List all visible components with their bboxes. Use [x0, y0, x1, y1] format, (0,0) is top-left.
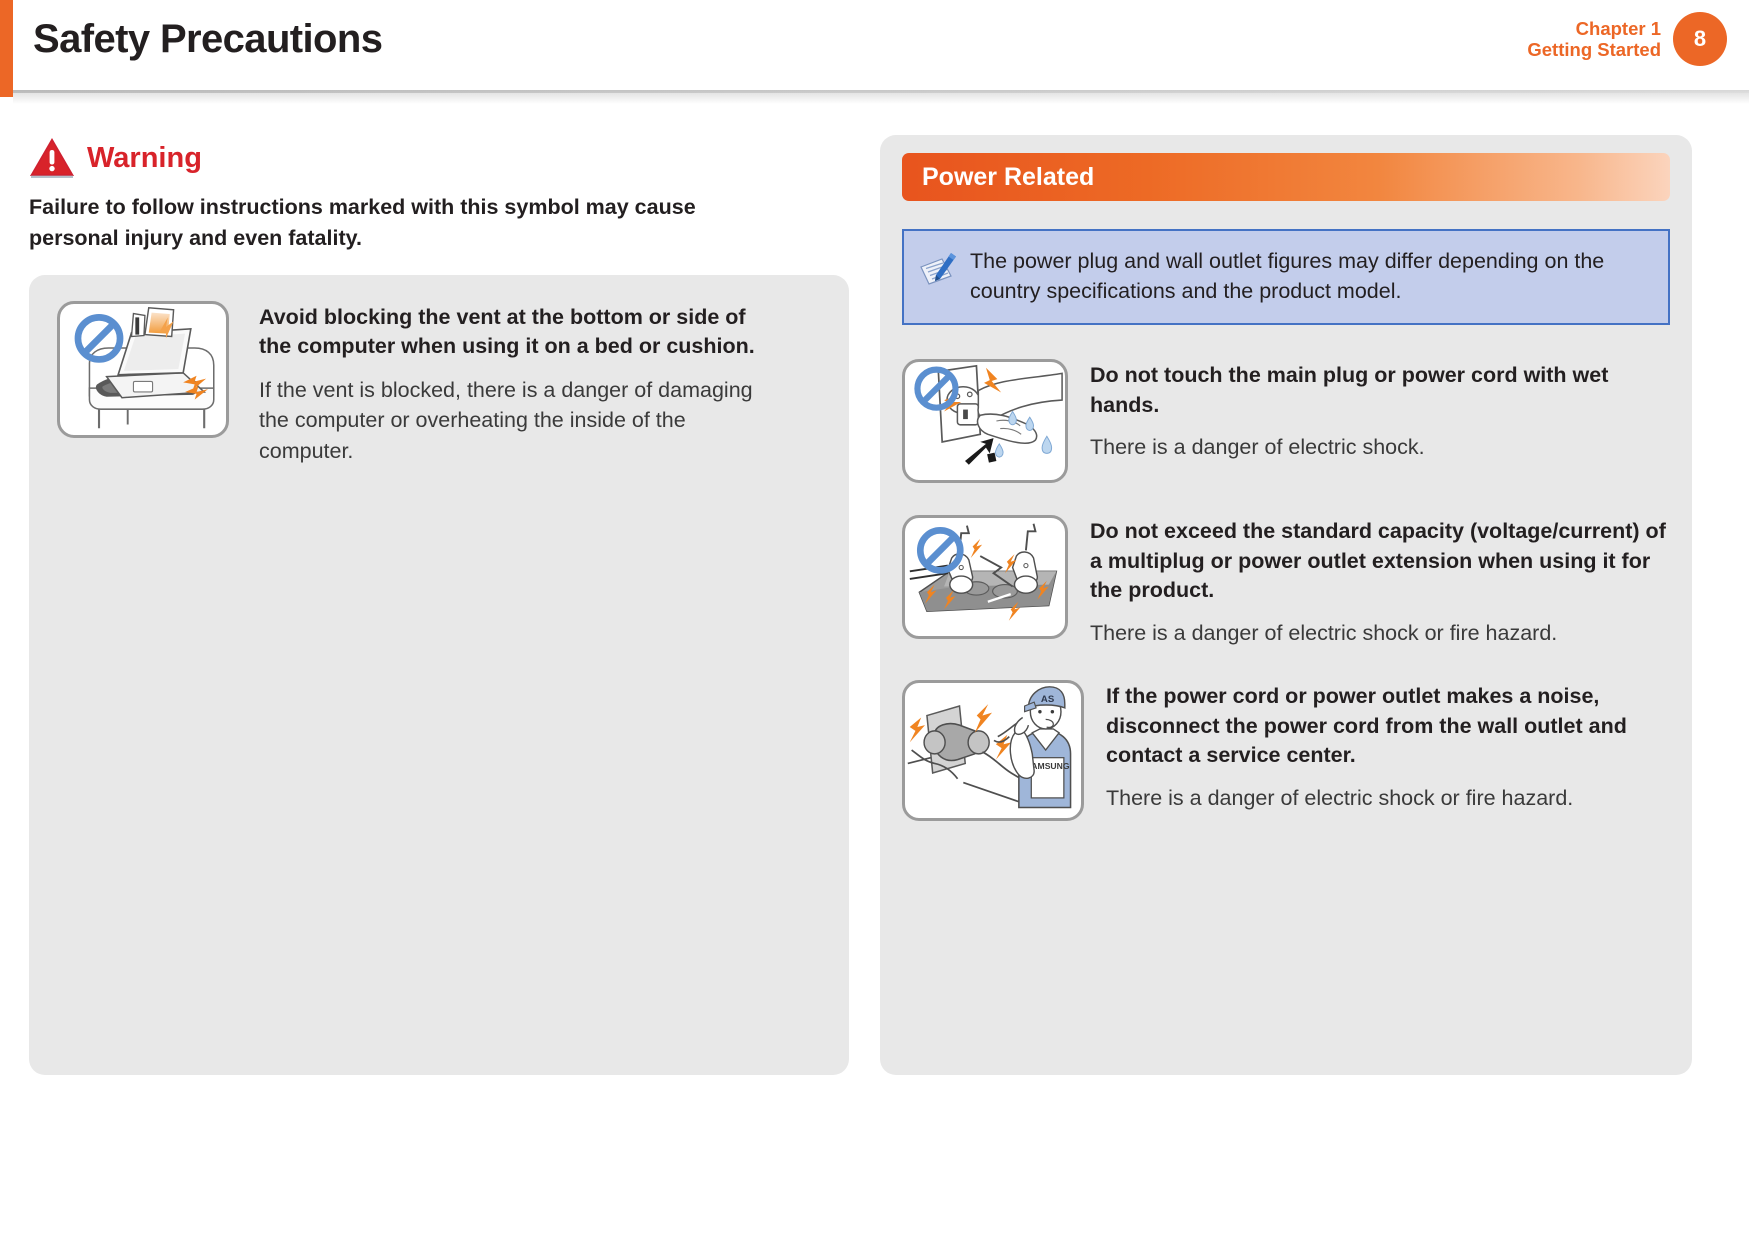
- header-divider-shadow: [13, 90, 1749, 104]
- service-center-call-icon: SAMSUNG AS: [902, 680, 1084, 821]
- precaution-title: Do not touch the main plug or power cord…: [1090, 361, 1670, 420]
- precaution-item: Avoid blocking the vent at the bottom or…: [57, 301, 819, 466]
- left-precautions-panel: Avoid blocking the vent at the bottom or…: [29, 275, 849, 1075]
- header-accent-bar: [0, 0, 13, 97]
- manual-page: Safety Precautions Chapter 1 Getting Sta…: [0, 0, 1749, 1241]
- left-column: Warning Failure to follow instructions m…: [0, 135, 880, 1241]
- precaution-body: Avoid blocking the vent at the bottom or…: [259, 301, 819, 466]
- section-title: Power Related: [922, 163, 1094, 192]
- precaution-body: Do not exceed the standard capacity (vol…: [1090, 515, 1670, 648]
- power-related-panel: Power Related: [880, 135, 1692, 1075]
- precaution-title: Do not exceed the standard capacity (vol…: [1090, 517, 1670, 605]
- precaution-description: There is a danger of electric shock or f…: [1106, 783, 1670, 814]
- note-pen-icon: [918, 247, 958, 306]
- warning-header: Warning: [29, 135, 850, 179]
- warning-label: Warning: [87, 142, 202, 175]
- precaution-title: If the power cord or power outlet makes …: [1106, 682, 1670, 770]
- precaution-description: If the vent is blocked, there is a dange…: [259, 375, 759, 467]
- chapter-info: Chapter 1 Getting Started: [1527, 18, 1661, 61]
- page-header: Safety Precautions Chapter 1 Getting Sta…: [0, 0, 1749, 100]
- precaution-body: Do not touch the main plug or power cord…: [1090, 359, 1670, 483]
- precaution-title: Avoid blocking the vent at the bottom or…: [259, 303, 779, 362]
- wet-hands-plug-prohibited-icon: [902, 359, 1068, 483]
- note-text: The power plug and wall outlet figures m…: [970, 247, 1648, 306]
- chapter-name: Getting Started: [1527, 39, 1661, 60]
- page-number-badge: 8: [1673, 12, 1727, 66]
- warning-triangle-icon: [29, 137, 75, 178]
- right-column: Power Related: [880, 135, 1749, 1241]
- precaution-body: If the power cord or power outlet makes …: [1106, 680, 1670, 821]
- note-box: The power plug and wall outlet figures m…: [902, 229, 1670, 325]
- precaution-item: SAMSUNG AS: [902, 680, 1670, 821]
- warning-description: Failure to follow instructions marked wi…: [29, 192, 769, 253]
- precaution-item: Do not touch the main plug or power cord…: [902, 359, 1670, 483]
- chapter-label: Chapter 1: [1527, 18, 1661, 39]
- precaution-description: There is a danger of electric shock.: [1090, 432, 1670, 463]
- section-title-bar: Power Related: [902, 153, 1670, 201]
- precaution-item: Do not exceed the standard capacity (vol…: [902, 515, 1670, 648]
- page-title: Safety Precautions: [33, 17, 382, 62]
- header-chapter-group: Chapter 1 Getting Started 8: [1527, 12, 1727, 66]
- laptop-on-cushion-prohibited-icon: [57, 301, 229, 438]
- precaution-description: There is a danger of electric shock or f…: [1090, 618, 1670, 649]
- content-columns: Warning Failure to follow instructions m…: [0, 135, 1749, 1241]
- multiplug-overload-prohibited-icon: [902, 515, 1068, 639]
- svg-text:AS: AS: [1041, 694, 1054, 705]
